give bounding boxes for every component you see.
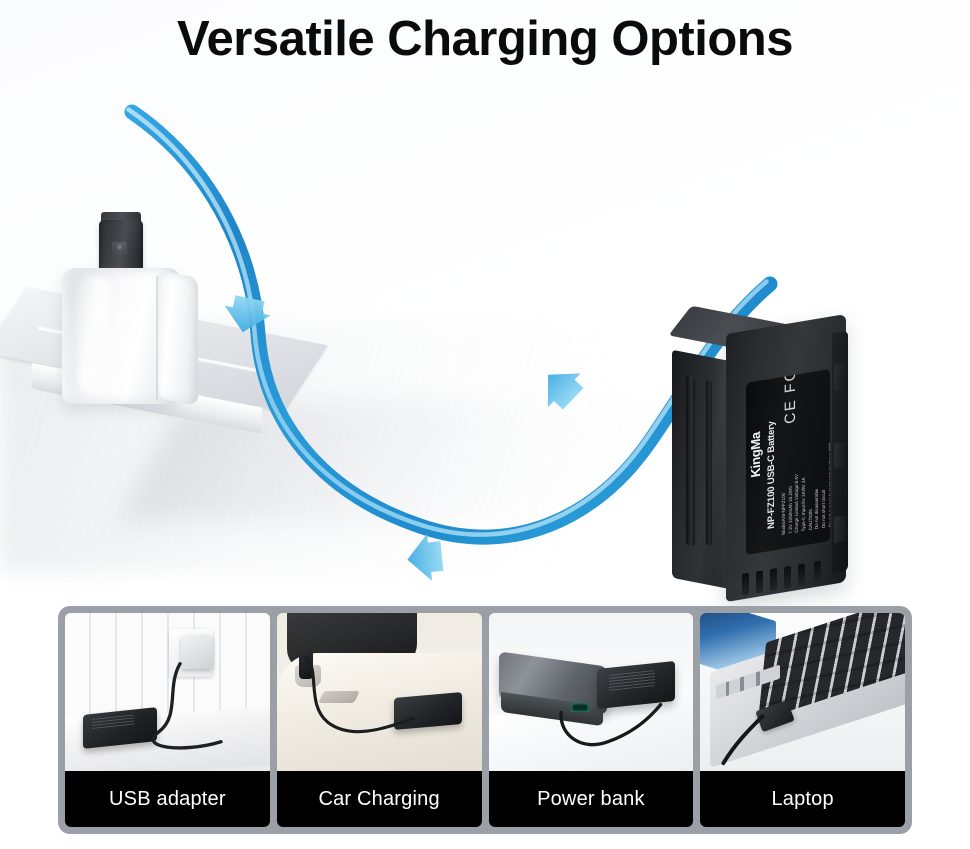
- panel-usb-adapter-label: USB adapter: [65, 771, 270, 827]
- panel-laptop[interactable]: Laptop: [700, 613, 905, 827]
- battery-groove-primary: [686, 375, 695, 547]
- charging-cord: [65, 613, 270, 771]
- panel-power-bank[interactable]: Power bank: [489, 613, 694, 827]
- panel-laptop-label: Laptop: [700, 771, 905, 827]
- product-feature-image: Versatile Charging Options: [0, 0, 970, 849]
- flow-arrow-3: [532, 358, 590, 416]
- charging-cord: [489, 613, 694, 771]
- panel-power-bank-label: Power bank: [489, 771, 694, 827]
- np-fz100-usb-c-battery: CE FC KingMa NP-FZ100 USB-C Battery Mode…: [672, 324, 858, 620]
- panel-laptop-image: [700, 613, 905, 771]
- panel-car-charging[interactable]: Car Charging: [277, 613, 482, 827]
- battery-model-name: NP-FZ100 USB-C Battery: [766, 378, 777, 530]
- usage-scenario-gallery: USB adapter Car Charging: [58, 606, 912, 834]
- panel-car-charging-image: [277, 613, 482, 771]
- battery-tab-lower: [834, 515, 847, 543]
- charging-cord: [700, 613, 905, 771]
- flow-arrow-2: [405, 533, 444, 583]
- battery-tab-upper: [834, 363, 847, 391]
- hero-illustration: CE FC KingMa NP-FZ100 USB-C Battery Mode…: [0, 72, 970, 592]
- panel-usb-adapter[interactable]: USB adapter: [65, 613, 270, 827]
- panel-power-bank-image: [489, 613, 694, 771]
- battery-tab-middle: [834, 441, 847, 469]
- panel-car-charging-label: Car Charging: [277, 771, 482, 827]
- charging-cord: [277, 613, 482, 771]
- battery-groove-secondary: [706, 379, 712, 546]
- battery-spec-text: Model:KM-NPFZ1007.2V 2250mAh 16.2WhCharg…: [781, 369, 830, 535]
- battery-brand-name: KingMa: [748, 390, 763, 479]
- panel-usb-adapter-image: [65, 613, 270, 771]
- page-title: Versatile Charging Options: [0, 14, 970, 65]
- battery-label: CE FC KingMa NP-FZ100 USB-C Battery Mode…: [746, 369, 830, 555]
